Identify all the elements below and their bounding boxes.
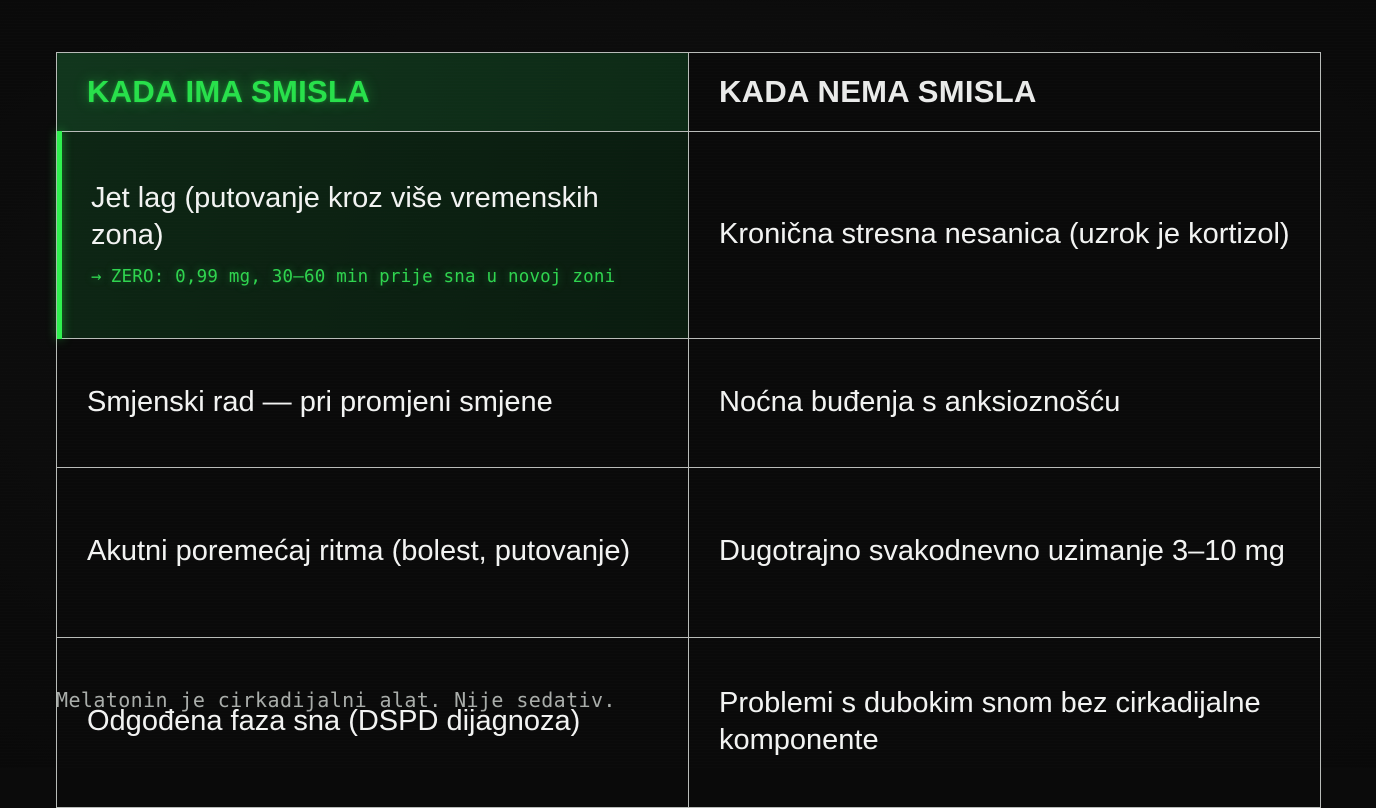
- footnote: Melatonin je cirkadijalni alat. Nije sed…: [56, 688, 616, 712]
- cell-no-1: Kronična stresna nesanica (uzrok je kort…: [689, 132, 1321, 339]
- cell-no-4: Problemi s dubokim snom bez cirkadijalne…: [689, 638, 1321, 808]
- column-header-when-it-does-not-make-sense: KADA NEMA SMISLA: [689, 53, 1321, 132]
- slide-canvas: KADA IMA SMISLA KADA NEMA SMISLA Jet lag…: [0, 0, 1376, 768]
- cell-yes-1-dosage-note: →ZERO: 0,99 mg, 30–60 min prije sna u no…: [91, 267, 660, 288]
- arrow-right-icon: →: [91, 267, 102, 287]
- table-row: Jet lag (putovanje kroz više vremenskih …: [57, 132, 1321, 339]
- table-row: Odgođena faza sna (DSPD dijagnoza) Probl…: [57, 638, 1321, 808]
- cell-no-3: Dugotrajno svakodnevno uzimanje 3–10 mg: [689, 468, 1321, 638]
- cell-no-2: Noćna buđenja s anksioznošću: [689, 339, 1321, 468]
- table-row: Akutni poremećaj ritma (bolest, putovanj…: [57, 468, 1321, 638]
- cell-yes-1-title: Jet lag (putovanje kroz više vremenskih …: [91, 180, 660, 253]
- cell-yes-1-dosage-text: ZERO: 0,99 mg, 30–60 min prije sna u nov…: [111, 267, 616, 287]
- table-header-row: KADA IMA SMISLA KADA NEMA SMISLA: [57, 53, 1321, 132]
- accent-bar-icon: [57, 131, 62, 339]
- cell-yes-1: Jet lag (putovanje kroz više vremenskih …: [57, 132, 689, 339]
- cell-yes-2: Smjenski rad — pri promjeni smjene: [57, 339, 689, 468]
- cell-yes-4: Odgođena faza sna (DSPD dijagnoza): [57, 638, 689, 808]
- cell-yes-3: Akutni poremećaj ritma (bolest, putovanj…: [57, 468, 689, 638]
- column-header-when-it-makes-sense: KADA IMA SMISLA: [57, 53, 689, 132]
- table-row: Smjenski rad — pri promjeni smjene Noćna…: [57, 339, 1321, 468]
- comparison-table-wrapper: KADA IMA SMISLA KADA NEMA SMISLA Jet lag…: [56, 52, 1320, 650]
- table-header: KADA IMA SMISLA KADA NEMA SMISLA: [57, 53, 1321, 132]
